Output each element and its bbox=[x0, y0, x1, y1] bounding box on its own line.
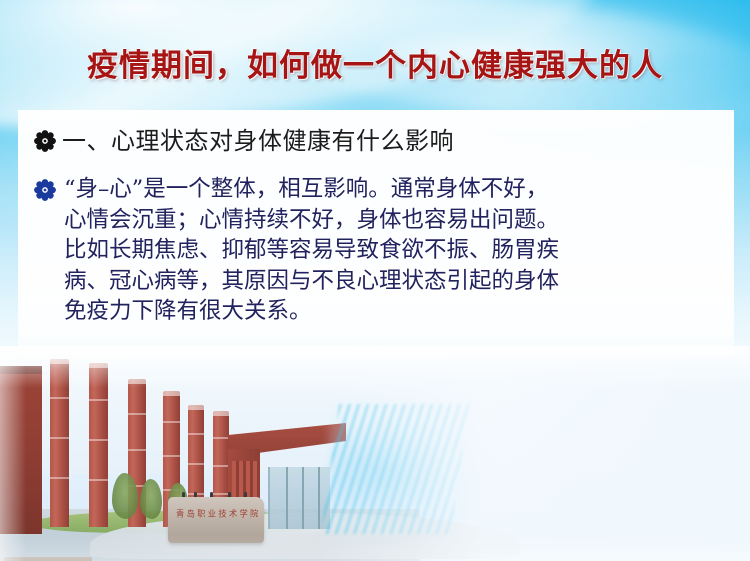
body-paragraph: “身–心”是一个整体，相互影响。通常身体不好， 心情会沉重；心情持续不好，身体也… bbox=[64, 174, 559, 327]
campus-gate-photo: 青岛职业技术学院 bbox=[0, 346, 750, 561]
flower-gear-icon-black bbox=[34, 130, 56, 152]
monument-inscription: 青岛职业技术学院 bbox=[176, 510, 250, 520]
presentation-slide: 疫情期间，如何做一个内心健康强大的人 一、心理状 bbox=[0, 0, 750, 561]
body-line-3: 比如长期焦虑、抑郁等容易导致食欲不振、肠胃疾 bbox=[64, 235, 559, 266]
flower-gear-icon-blue bbox=[34, 179, 56, 201]
slide-title: 疫情期间，如何做一个内心健康强大的人 bbox=[87, 44, 663, 88]
body-line-1: “身–心”是一个整体，相互影响。通常身体不好， bbox=[64, 174, 559, 205]
content-panel: 一、心理状态对身体健康有什么影响 bbox=[18, 110, 734, 356]
body-line-2: 心情会沉重；心情持续不好，身体也容易出问题。 bbox=[64, 205, 559, 236]
body-bullet-wrap bbox=[34, 174, 64, 201]
photo-bottom-fade bbox=[0, 535, 750, 561]
body-paragraph-row: “身–心”是一个整体，相互影响。通常身体不好， 心情会沉重；心情持续不好，身体也… bbox=[18, 158, 734, 327]
section-heading-row: 一、心理状态对身体健康有什么影响 bbox=[18, 110, 734, 158]
section-heading-text: 一、心理状态对身体健康有什么影响 bbox=[62, 124, 454, 158]
body-line-4: 病、冠心病等，其原因与不良心理状态引起的身体 bbox=[64, 266, 559, 297]
tree-2 bbox=[140, 479, 162, 519]
slide-title-bar: 疫情期间，如何做一个内心健康强大的人 bbox=[0, 44, 750, 88]
photo-left-fade bbox=[0, 346, 26, 561]
body-line-5: 免疫力下降有很大关系。 bbox=[64, 296, 559, 327]
